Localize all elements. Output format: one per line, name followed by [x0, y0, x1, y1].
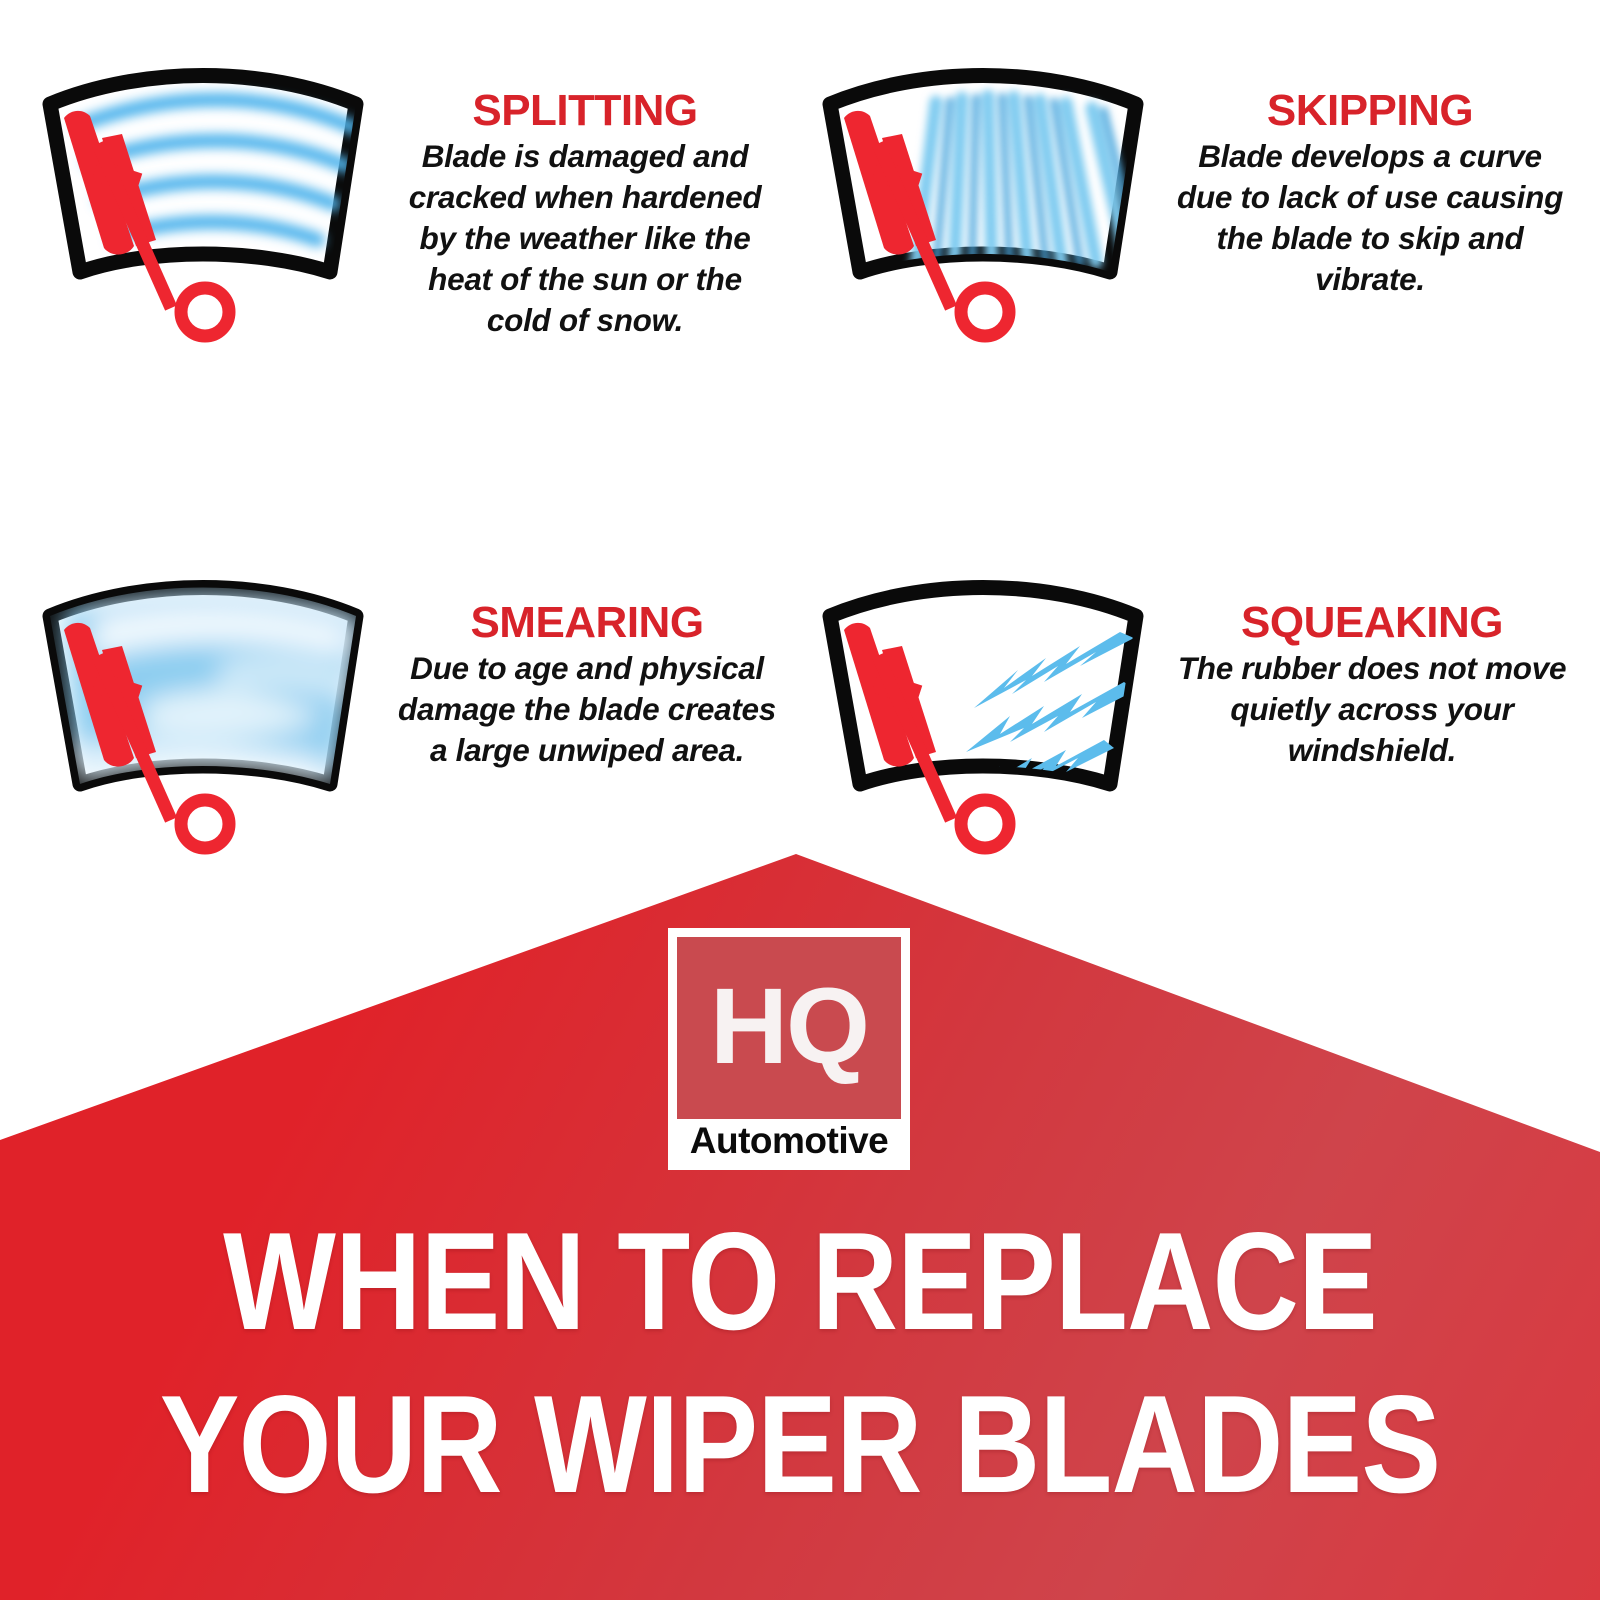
panel-skipping-text: SKIPPING Blade develops a curve due to l…: [1176, 88, 1564, 300]
logo-mark-box: HQ: [677, 937, 901, 1119]
infographic-canvas: SPLITTING Blade is damaged and cracked w…: [0, 0, 1600, 1600]
logo-mark-text: HQ: [710, 972, 868, 1080]
windshield-wiper-smear-icon: [24, 552, 380, 867]
panel-smearing-text: SMEARING Due to age and physical damage …: [396, 600, 778, 771]
panel-splitting-body: Blade is damaged and cracked when harden…: [396, 136, 774, 341]
windshield-wiper-arcs-icon: [24, 40, 380, 355]
panel-skipping: SKIPPING Blade develops a curve due to l…: [804, 40, 1584, 370]
panel-smearing-title: SMEARING: [396, 600, 778, 646]
panel-squeaking-text: SQUEAKING The rubber does not move quiet…: [1176, 600, 1568, 771]
panel-splitting-title: SPLITTING: [396, 88, 774, 134]
panel-skipping-body: Blade develops a curve due to lack of us…: [1176, 136, 1564, 300]
windshield-wiper-streaks-icon: [804, 40, 1160, 355]
headline: WHEN TO REPLACE YOUR WIPER BLADES: [0, 1210, 1600, 1516]
headline-line-2: YOUR WIPER BLADES: [112, 1373, 1488, 1516]
panel-smearing-body: Due to age and physical damage the blade…: [396, 648, 778, 771]
windshield-wiper-zigzag-icon: [804, 552, 1160, 867]
panel-splitting-text: SPLITTING Blade is damaged and cracked w…: [396, 88, 774, 341]
panel-skipping-title: SKIPPING: [1176, 88, 1564, 134]
panel-squeaking-title: SQUEAKING: [1176, 600, 1568, 646]
headline-line-1: WHEN TO REPLACE: [112, 1210, 1488, 1353]
logo-subtitle-box: Automotive: [677, 1119, 901, 1161]
panel-squeaking-body: The rubber does not move quietly across …: [1176, 648, 1568, 771]
logo-subtitle-text: Automotive: [690, 1122, 889, 1159]
panel-squeaking: SQUEAKING The rubber does not move quiet…: [804, 552, 1584, 882]
hq-automotive-logo: HQ Automotive: [668, 928, 910, 1170]
